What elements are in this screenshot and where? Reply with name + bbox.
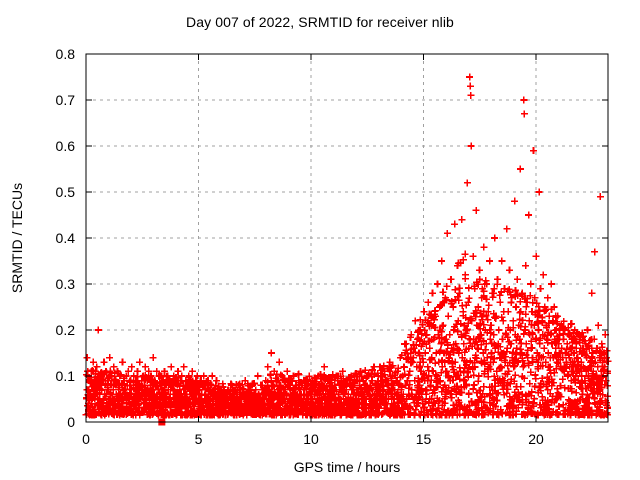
x-tick-label: 20 — [528, 431, 544, 447]
y-tick-label: 0.5 — [56, 184, 76, 200]
x-tick-label: 10 — [303, 431, 319, 447]
y-tick-label: 0.4 — [56, 230, 76, 246]
x-axis-title: GPS time / hours — [294, 459, 401, 475]
y-tick-label: 0.1 — [56, 368, 76, 384]
y-tick-label: 0.3 — [56, 276, 76, 292]
y-tick-label: 0.7 — [56, 92, 76, 108]
gridlines — [86, 54, 608, 422]
x-tick-label: 5 — [195, 431, 203, 447]
y-tick-label: 0 — [67, 414, 75, 430]
y-tick-label: 0.8 — [56, 46, 76, 62]
scatter-chart: 00.10.20.30.40.50.60.70.805101520GPS tim… — [0, 0, 640, 480]
y-tick-label: 0.2 — [56, 322, 76, 338]
data-points — [83, 74, 612, 426]
x-tick-label: 0 — [82, 431, 90, 447]
y-axis-title: SRMTID / TECUs — [9, 183, 25, 293]
y-tick-label: 0.6 — [56, 138, 76, 154]
plot-window: Day 007 of 2022, SRMTID for receiver nli… — [0, 0, 640, 480]
x-tick-label: 15 — [416, 431, 432, 447]
